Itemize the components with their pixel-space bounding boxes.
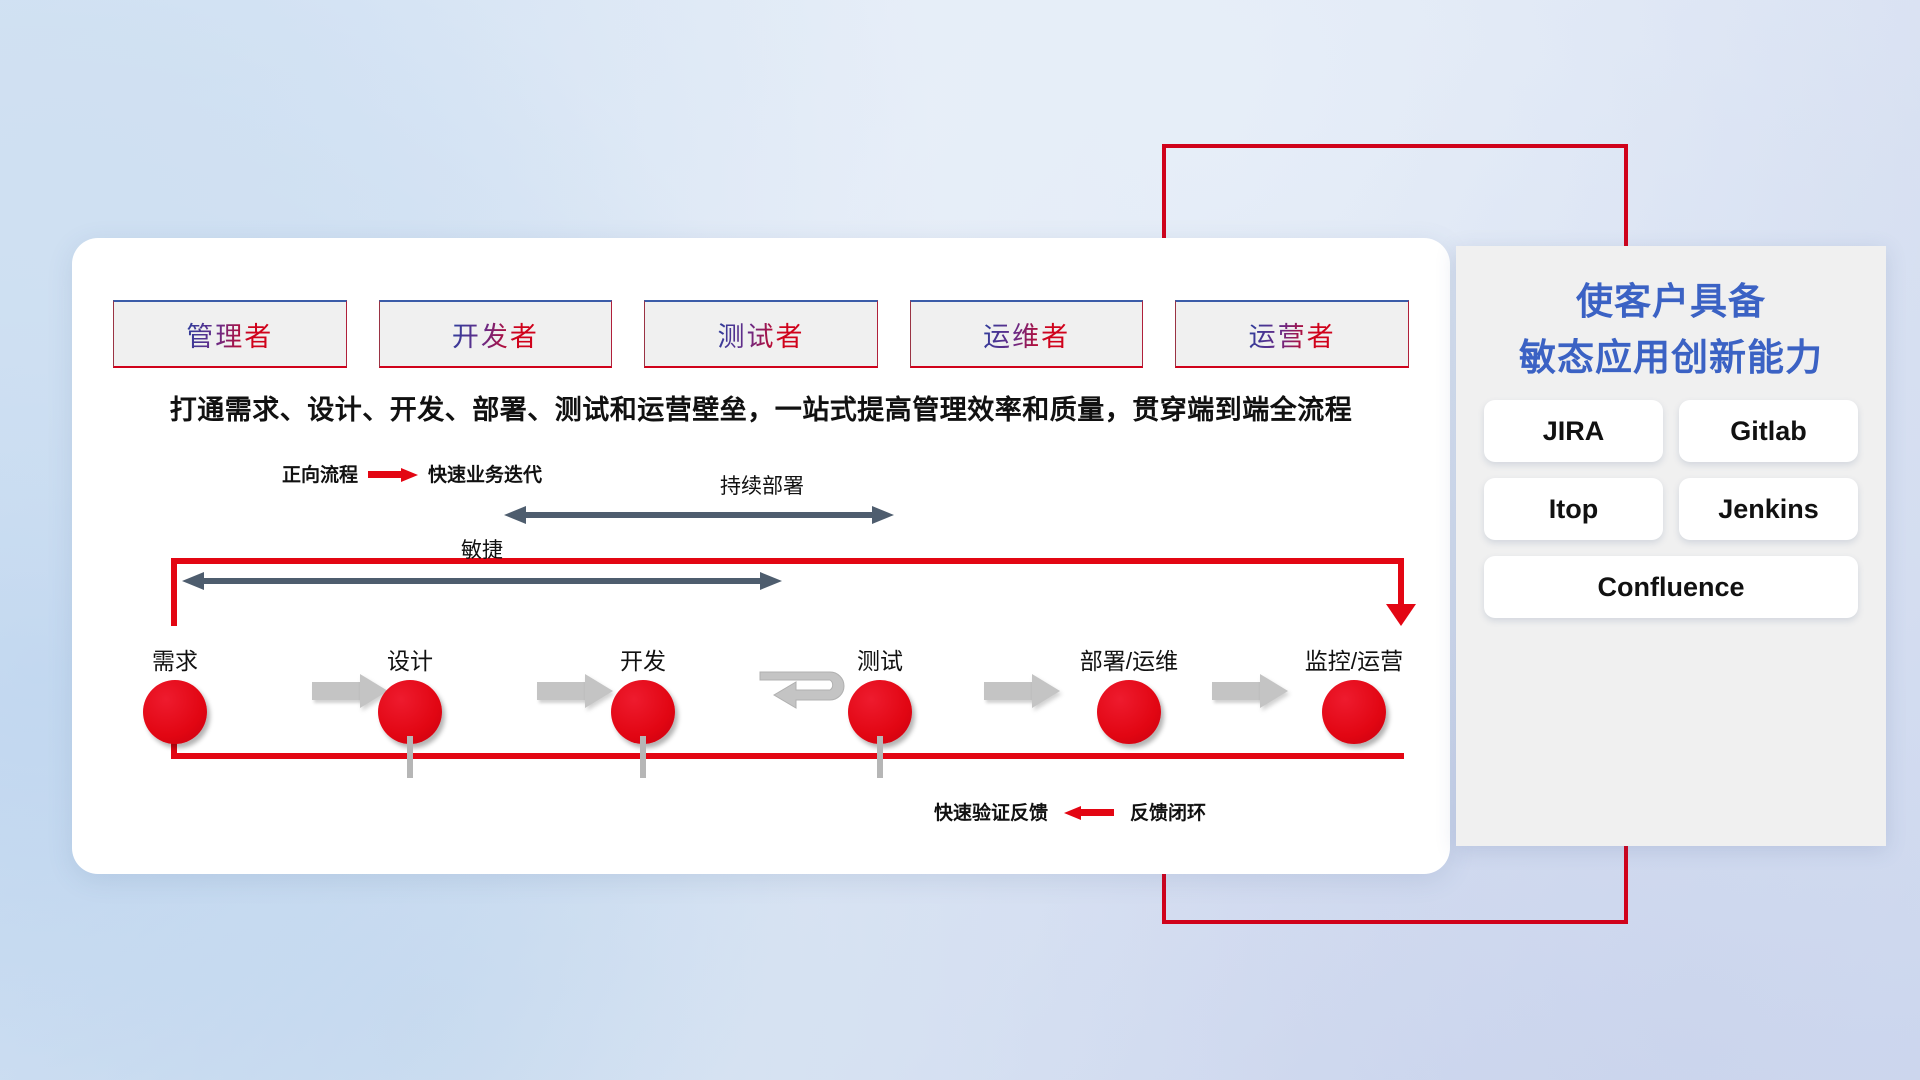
role-label: 管理者 [186,315,273,354]
arrow-left-icon [1064,806,1114,817]
feedback-loop-bottom-line [171,753,1404,759]
role-label: 开发者 [452,315,539,354]
feedback-loop-right-line [1398,558,1404,608]
role-box-manager[interactable]: 管理者 [113,300,347,368]
tool-chip-itop[interactable]: Itop [1484,478,1663,540]
role-box-developer[interactable]: 开发者 [379,300,613,368]
span-label-agile: 敏捷 [402,534,562,564]
role-box-operations[interactable]: 运营者 [1175,300,1409,368]
stage-testing[interactable]: 测试 [825,642,935,744]
stage-design[interactable]: 设计 [355,642,465,744]
stage-label: 需求 [120,642,230,676]
double-arrow-agile [182,572,782,590]
stage-riser [640,736,646,778]
stage-requirement[interactable]: 需求 [120,642,230,744]
legend-forward-target-label: 快速业务迭代 [428,460,542,487]
panel-heading: 使客户具备 敏态应用创新能力 [1456,246,1886,386]
tagline: 打通需求、设计、开发、部署、测试和运营壁垒，一站式提高管理效率和质量，贯穿端到端… [72,388,1450,427]
stage-label: 设计 [355,642,465,676]
stage-development[interactable]: 开发 [588,642,698,744]
roles-row: 管理者 开发者 测试者 运维者 运营者 [113,300,1409,368]
legend-forward-source-label: 正向流程 [282,460,358,487]
stage-dot [378,680,442,744]
double-arrow-continuous-deployment [504,506,894,524]
stage-dot [611,680,675,744]
stage-dot [848,680,912,744]
tool-chip-gitlab[interactable]: Gitlab [1679,400,1858,462]
stage-deploy-ops[interactable]: 部署/运维 [1044,642,1214,744]
stage-riser [877,736,883,778]
panel-heading-line-1: 使客户具备 [1456,274,1886,330]
stage-monitor-operations[interactable]: 监控/运营 [1264,642,1444,744]
legend-forward-flow: 正向流程 快速业务迭代 [282,460,542,487]
span-label-continuous-deployment: 持续部署 [632,470,892,500]
role-label: 运维者 [983,315,1070,354]
right-panel: 使客户具备 敏态应用创新能力 JIRA Gitlab Itop Jenkins … [1456,246,1886,846]
panel-heading-line-2: 敏态应用创新能力 [1456,330,1886,386]
legend-feedback-source-label: 快速验证反馈 [934,798,1048,825]
feedback-loop-left-upper-line [171,558,177,626]
main-card: 管理者 开发者 测试者 运维者 运营者 打通需求、设计、开发、部署、测试和运营壁… [72,238,1450,874]
role-box-ops[interactable]: 运维者 [910,300,1144,368]
tool-grid: JIRA Gitlab Itop Jenkins Confluence [1484,400,1858,618]
role-label: 运营者 [1249,315,1336,354]
stage-dot [1322,680,1386,744]
feedback-loop-down-arrow-icon [1386,604,1416,626]
tool-chip-confluence[interactable]: Confluence [1484,556,1858,618]
role-label: 测试者 [717,315,804,354]
stage-dot [1097,680,1161,744]
feedback-loop-top-line [171,558,1404,564]
stage-label: 部署/运维 [1044,642,1214,676]
legend-feedback-target-label: 反馈闭环 [1130,798,1206,825]
arrow-right-icon [368,468,418,479]
legend-feedback-loop: 快速验证反馈 反馈闭环 [934,798,1206,825]
stage-dot [143,680,207,744]
tool-chip-jira[interactable]: JIRA [1484,400,1663,462]
role-box-tester[interactable]: 测试者 [644,300,878,368]
stage-label: 开发 [588,642,698,676]
tool-chip-jenkins[interactable]: Jenkins [1679,478,1858,540]
stage-label: 测试 [825,642,935,676]
stage-riser [407,736,413,778]
stage-label: 监控/运营 [1264,642,1444,676]
